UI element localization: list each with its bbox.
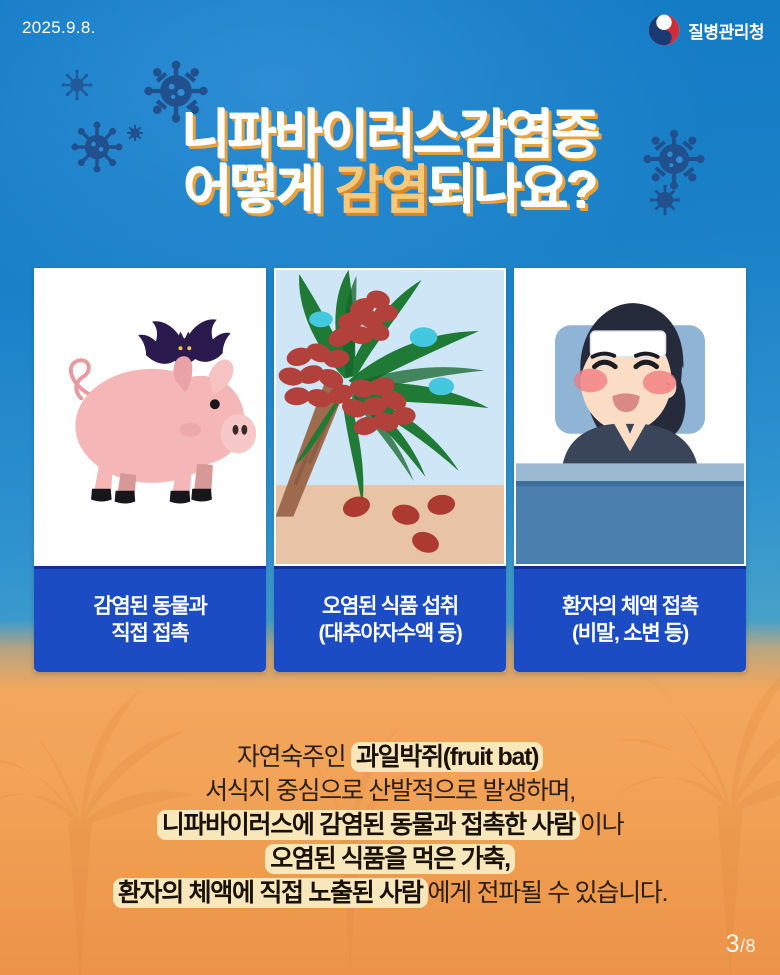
description-line-4: 오염된 식품을 먹은 가축, — [0, 842, 780, 876]
card-label-line-1: 오염된 식품 섭취 — [318, 594, 461, 620]
kdca-taegeuk-logo-icon — [648, 14, 680, 46]
description-line-3: 니파바이러스에 감염된 동물과 접촉한 사람이나 — [0, 808, 780, 842]
title-line-2-suffix: 되나요? — [427, 161, 596, 220]
card-label-line-1: 환자의 체액 접촉 — [562, 594, 698, 620]
description-run-2-1: 서식지 중심으로 산발적으로 발생하며, — [205, 777, 575, 805]
title-line-2-prefix: 어떻게 — [184, 161, 335, 220]
description-text: 자연숙주인 과일박쥐(fruit bat)서식지 중심으로 산발적으로 발생하며… — [0, 740, 780, 910]
card-label-patient-fluid-contact: 환자의 체액 접촉 (비말, 소변 등) — [514, 566, 746, 672]
page-indicator: 3/8 — [726, 930, 756, 959]
kdca-logo: 질병관리청 — [648, 14, 764, 46]
card-label-contaminated-food: 오염된 식품 섭취 (대추야자수액 등) — [274, 566, 506, 672]
description-run-3-2: 이나 — [580, 811, 623, 839]
card-patient-fluid-contact[interactable]: 환자의 체액 접촉 (비말, 소변 등) — [514, 268, 746, 672]
card-label-line-1: 감염된 동물과 — [93, 594, 206, 620]
description-run-1-1: 자연숙주인 — [237, 743, 351, 771]
page-title: 니파바이러스감염증 어떻게 감염되나요? — [0, 108, 780, 218]
sick-patient-in-bed-illustration — [514, 268, 746, 566]
date-palm-tree-illustration — [274, 268, 506, 566]
card-label-line-2: (대추야자수액 등) — [318, 621, 461, 647]
description-line-2: 서식지 중심으로 산발적으로 발생하며, — [0, 774, 780, 808]
description-line-1: 자연숙주인 과일박쥐(fruit bat) — [0, 740, 780, 774]
transmission-card-list: 감염된 동물과 직접 접촉 — [34, 268, 746, 672]
card-label-line-2: 직접 접촉 — [93, 621, 206, 647]
infographic-page: 2025.9.8. 질병관리청 니파바이러스감염증 어떻게 감염되나요? — [0, 0, 780, 975]
description-run-5-1: 환자의 체액에 직접 노출된 사람 — [113, 878, 428, 908]
description-run-3-1: 니파바이러스에 감염된 동물과 접촉한 사람 — [157, 810, 580, 840]
title-line-2-highlight: 감염 — [335, 161, 428, 220]
card-contaminated-food[interactable]: 오염된 식품 섭취 (대추야자수액 등) — [274, 268, 506, 672]
title-line-2: 어떻게 감염되나요? — [0, 163, 780, 218]
page-total: 8 — [745, 936, 756, 956]
description-run-4-1: 오염된 식품을 먹은 가축, — [265, 844, 515, 874]
page-current: 3 — [726, 930, 740, 958]
card-infected-animal-contact[interactable]: 감염된 동물과 직접 접촉 — [34, 268, 266, 672]
card-label-infected-animal-contact: 감염된 동물과 직접 접촉 — [34, 566, 266, 672]
title-line-1: 니파바이러스감염증 — [0, 108, 780, 163]
description-run-5-2: 에게 전파될 수 있습니다. — [428, 879, 668, 907]
publish-date: 2025.9.8. — [22, 18, 96, 38]
description-run-1-2: 과일박쥐(fruit bat) — [351, 742, 543, 772]
card-label-line-2: (비말, 소변 등) — [562, 621, 698, 647]
pig-and-bat-illustration — [34, 268, 266, 566]
agency-name: 질병관리청 — [688, 18, 764, 43]
description-line-5: 환자의 체액에 직접 노출된 사람에게 전파될 수 있습니다. — [0, 876, 780, 910]
